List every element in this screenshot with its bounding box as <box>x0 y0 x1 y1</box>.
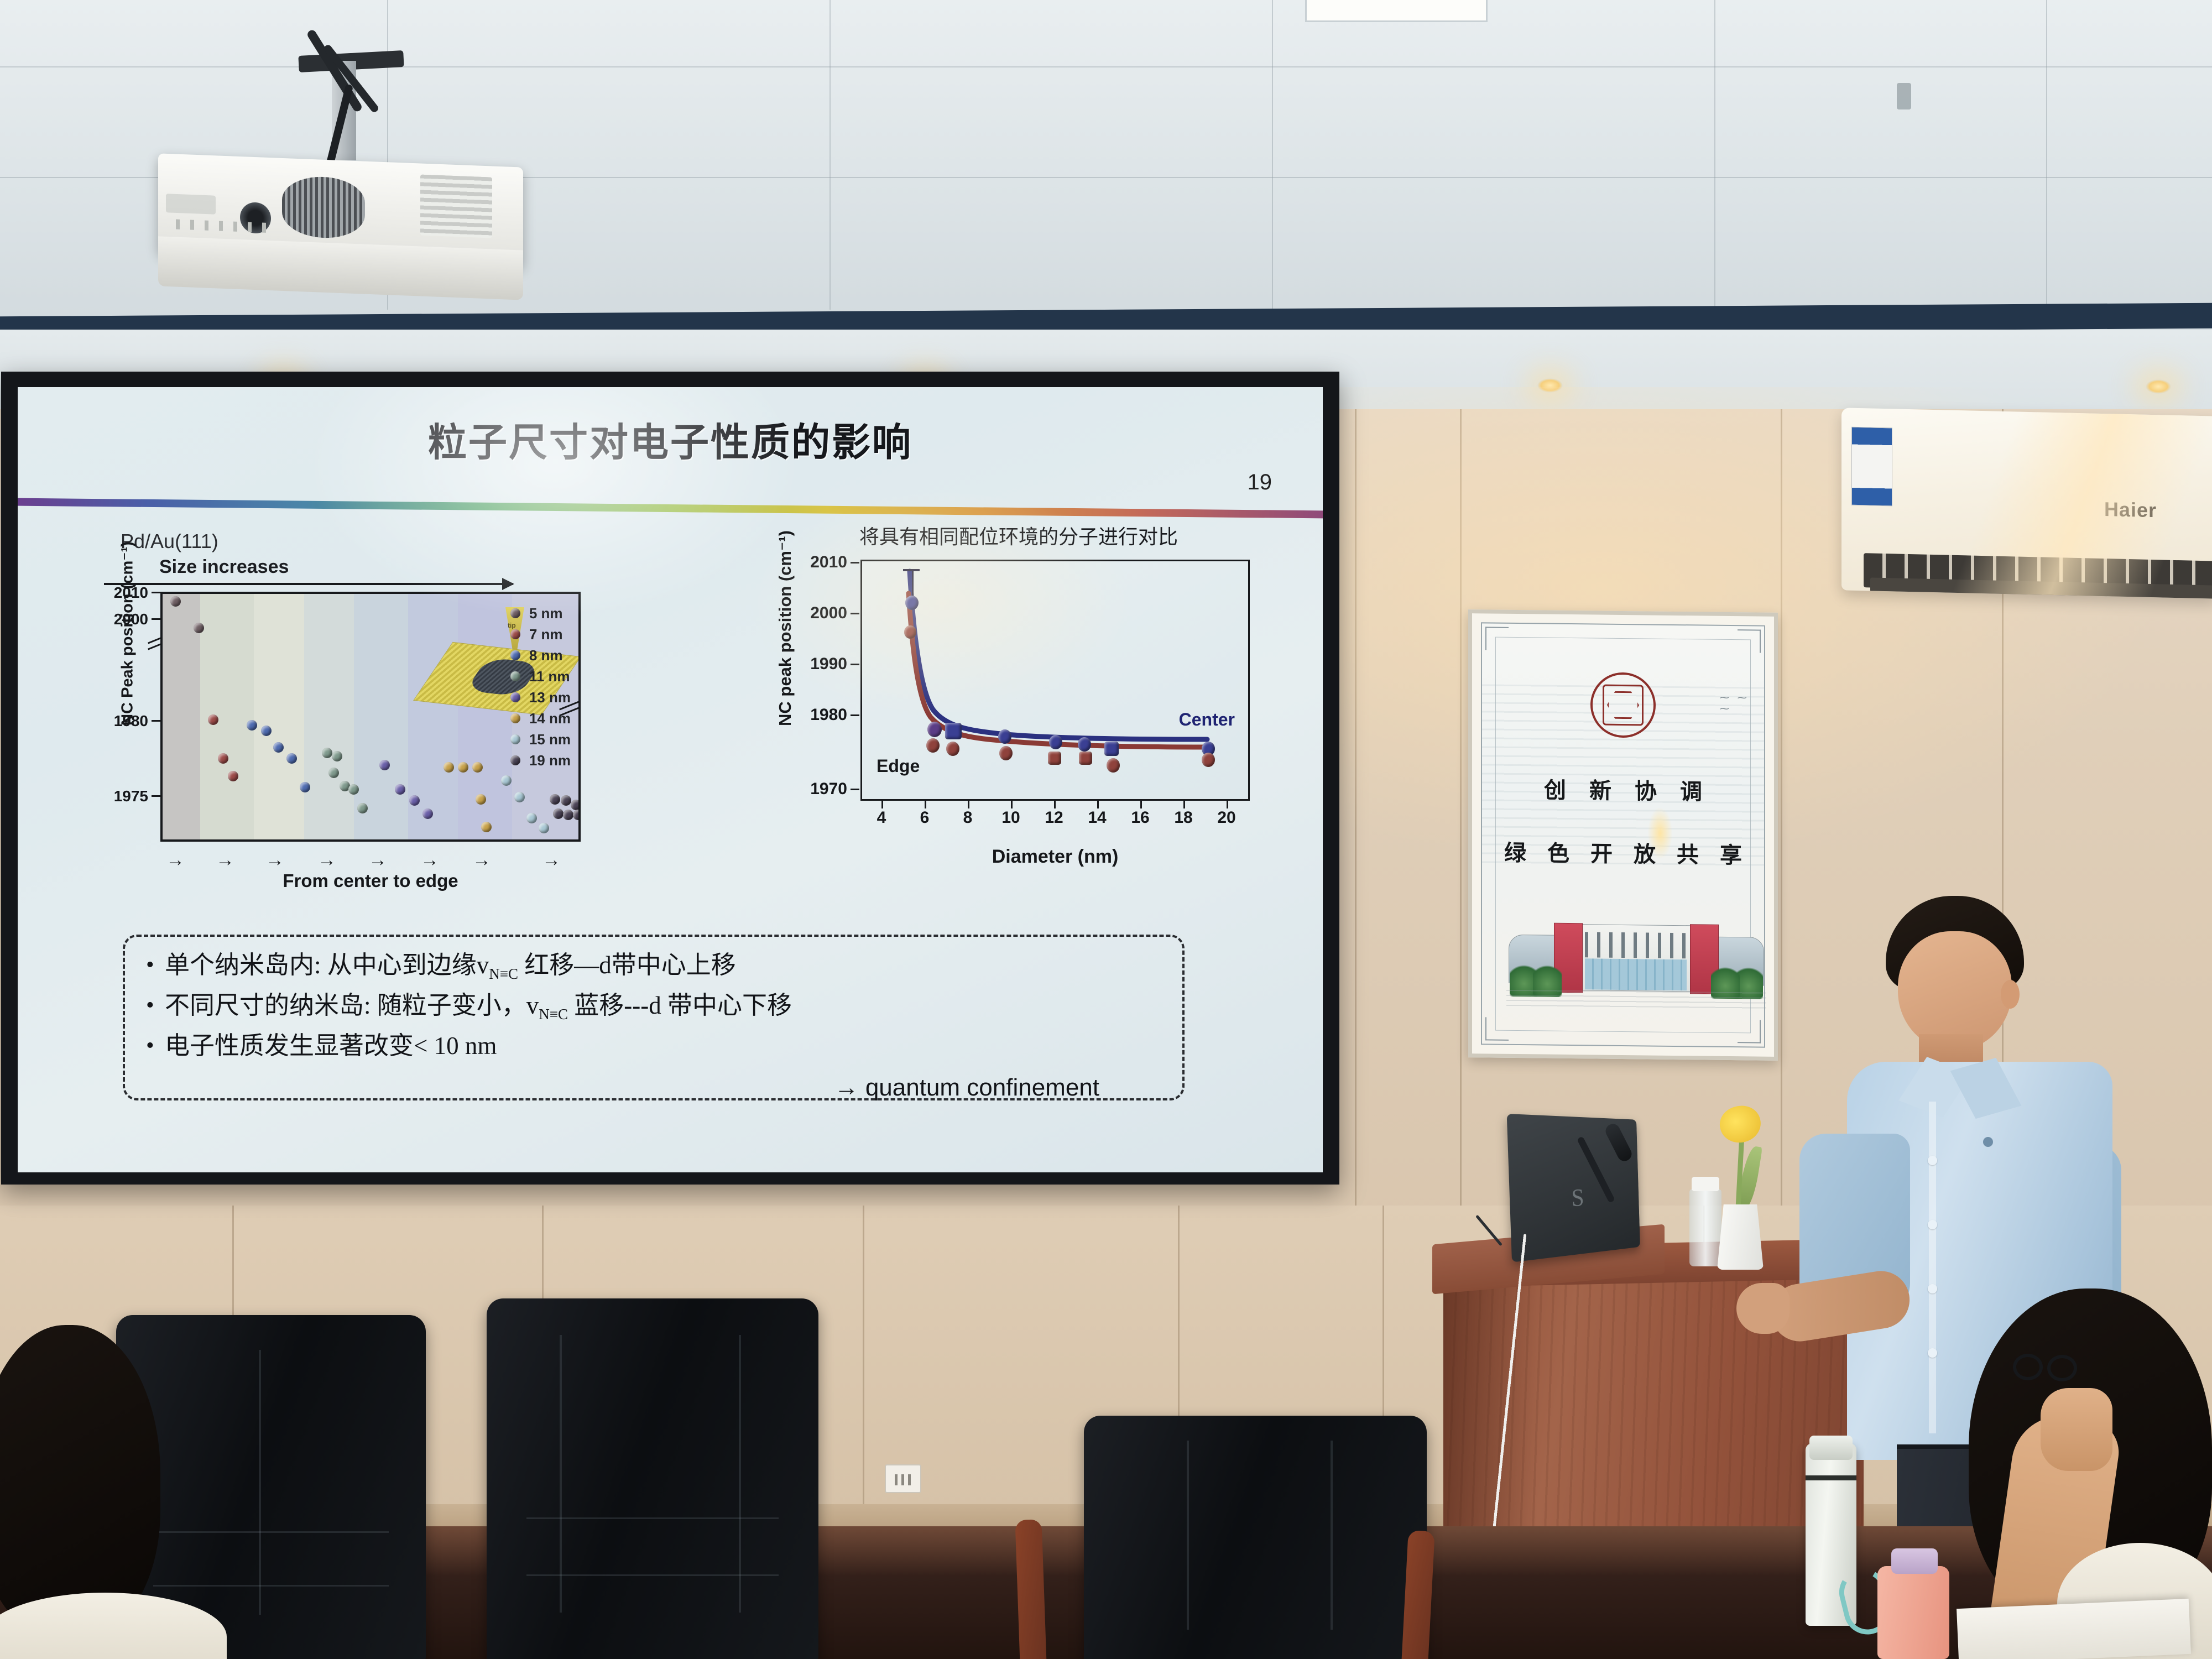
right-chart: 将具有相同配位环境的分子进行对比 NC peak position (cm⁻¹)… <box>737 524 1301 878</box>
data-point <box>501 775 512 786</box>
skylight-panel <box>1305 0 1488 22</box>
smoke-detector-icon <box>1897 83 1911 109</box>
legend-label: 8 nm <box>529 647 563 664</box>
data-point <box>571 800 581 810</box>
left-ytick: 2010 <box>82 584 148 602</box>
error-bar <box>903 569 920 571</box>
data-point <box>946 742 959 756</box>
water-bottle[interactable] <box>1689 1189 1721 1266</box>
left-ytick: 1980 <box>82 712 148 730</box>
data-point <box>1202 753 1215 767</box>
right-xtick: 4 <box>868 808 895 827</box>
bullet-dot-icon: • <box>146 992 165 1017</box>
left-chart-legend: 5 nm 7 nm 8 nm 11 nm 13 nm 14 nm 15 nm 1… <box>510 603 571 771</box>
wall-power-outlet[interactable] <box>885 1464 921 1493</box>
right-xtick: 6 <box>911 808 938 827</box>
shirt-pocket-logo <box>1983 1137 1993 1147</box>
legend-label: 11 nm <box>529 668 570 685</box>
right-xtick: 10 <box>998 808 1024 827</box>
data-point <box>1078 737 1091 752</box>
data-point <box>409 795 420 806</box>
data-point <box>444 762 454 773</box>
data-point <box>998 729 1011 744</box>
right-chart-caption: 将具有相同配位环境的分子进行对比 <box>737 521 1301 550</box>
data-point <box>208 714 218 725</box>
data-point <box>553 808 564 819</box>
center-to-edge-arrows: → → → → → → → → <box>163 849 581 868</box>
right-xtick: 8 <box>954 808 981 827</box>
legend-item: 13 nm <box>510 687 571 708</box>
data-point <box>273 742 284 753</box>
data-point <box>218 753 228 764</box>
projector-fan-grille <box>282 175 365 239</box>
legend-swatch <box>510 650 520 660</box>
center-series-label: Center <box>1179 709 1235 730</box>
data-point <box>395 784 405 795</box>
left-ytick: 1975 <box>82 787 148 805</box>
data-point <box>927 722 942 737</box>
data-point <box>476 794 486 805</box>
data-point <box>332 751 342 761</box>
bullet-item: • 不同尺寸的纳米岛: 随粒子变小，vN≡C 蓝移---d 带中心下移 <box>146 992 1161 1023</box>
right-ytick: 1990 <box>775 655 847 674</box>
poster-slogan-line1: 创 新 协 调 <box>1482 771 1764 806</box>
flower-vase <box>1717 1204 1764 1270</box>
data-point <box>1048 752 1061 765</box>
projected-slide: 粒子尺寸对电子性质的影响 19 Pd/Au(111) Size increase… <box>18 387 1323 1172</box>
data-point <box>999 746 1013 760</box>
data-point <box>1107 758 1120 773</box>
bullet-item: • 电子性质发生显著改变< 10 nm <box>146 1032 1161 1060</box>
bullet-text: 不同尺寸的纳米岛: 随粒子变小， <box>165 992 526 1019</box>
lecture-room-photo: Haier ⁓ ⁓ ⁓ 创 新 协 调 绿 色 开 放 共 享 <box>0 0 2212 1659</box>
legend-item: 15 nm <box>510 729 571 750</box>
data-point <box>286 753 297 764</box>
data-point <box>194 623 204 633</box>
legend-item: 8 nm <box>510 645 571 666</box>
edge-series-label: Edge <box>877 756 920 776</box>
slide-divider-bar <box>18 498 1323 519</box>
data-point <box>357 803 368 813</box>
right-ytick: 1970 <box>775 780 847 799</box>
data-point <box>379 760 390 770</box>
legend-swatch <box>510 692 520 702</box>
right-xtick: 14 <box>1084 808 1110 827</box>
data-point <box>228 771 238 781</box>
data-point <box>573 810 581 820</box>
data-point <box>539 823 549 833</box>
university-seal-icon <box>1590 672 1656 738</box>
legend-item: 19 nm <box>510 750 571 771</box>
size-increases-label: Size increases <box>159 556 289 578</box>
eyeglasses-icon <box>2013 1354 2079 1383</box>
bullet-subscript: N≡C <box>489 966 518 982</box>
data-point <box>1104 742 1119 756</box>
left-plot-area: tip 5 nm 7 nm 8 nm 11 nm 13 nm 14 nm 15 … <box>160 592 581 842</box>
data-point <box>563 810 573 820</box>
data-point <box>904 625 916 639</box>
data-point <box>561 795 571 806</box>
right-ytick: 2000 <box>775 604 847 623</box>
legend-label: 19 nm <box>529 752 571 769</box>
right-chart-xlabel: Diameter (nm) <box>860 846 1250 868</box>
left-ytick: 2000 <box>82 611 148 628</box>
legend-label: 15 nm <box>529 731 571 748</box>
presenter-face <box>1898 931 2012 1051</box>
printed-handout[interactable] <box>1957 1599 2191 1659</box>
data-point <box>945 723 962 739</box>
downlight-icon <box>2146 379 2171 394</box>
right-plot-area: Center Edge <box>860 560 1250 801</box>
legend-item: 11 nm <box>510 666 571 687</box>
data-point <box>481 822 492 832</box>
wall-poster: ⁓ ⁓ ⁓ 创 新 协 调 绿 色 开 放 共 享 <box>1468 609 1778 1061</box>
data-point <box>261 726 272 736</box>
data-point <box>422 808 433 819</box>
presenter-hand <box>1736 1283 1790 1334</box>
left-chart-ylabel: NC Peak position (cm⁻¹) <box>118 540 137 728</box>
attendee-hand <box>2041 1388 2112 1471</box>
bullet-dot-icon: • <box>146 1032 165 1057</box>
legend-item: 7 nm <box>510 624 571 645</box>
poster-slogan-line2: 绿 色 开 放 共 享 <box>1482 834 1764 869</box>
slide-bullet-box: • 单个纳米岛内: 从中心到边缘vN≡C 红移—d带中心上移 • 不同尺寸的纳米… <box>123 935 1185 1100</box>
bullet-subscript: N≡C <box>539 1006 568 1022</box>
legend-swatch <box>510 608 520 618</box>
air-conditioner: Haier <box>1841 408 2212 598</box>
left-chart-xlabel: From center to edge <box>160 870 581 891</box>
size-increases-arrow-icon <box>104 583 513 585</box>
legend-label: 7 nm <box>529 626 563 643</box>
data-point <box>526 813 537 823</box>
right-xtick: 12 <box>1041 808 1067 827</box>
data-point <box>300 782 310 792</box>
data-point <box>472 762 483 773</box>
legend-swatch <box>510 755 520 765</box>
data-point <box>348 784 359 795</box>
legend-swatch <box>510 671 520 681</box>
bullet-symbol: v <box>526 992 539 1019</box>
chair[interactable] <box>1084 1416 1427 1659</box>
data-point <box>170 596 181 607</box>
data-point <box>514 792 525 802</box>
bullet-item: • 单个纳米岛内: 从中心到边缘vN≡C 红移—d带中心上移 <box>146 951 1161 983</box>
legend-item: 5 nm <box>510 603 571 624</box>
right-xtick: 18 <box>1170 808 1197 827</box>
slide-page-number: 19 <box>1248 470 1272 495</box>
data-point <box>1049 735 1062 749</box>
bullet-symbol: v <box>477 951 489 979</box>
legend-swatch <box>510 734 520 744</box>
data-point <box>328 768 339 778</box>
pink-water-bottle[interactable] <box>1877 1566 1949 1659</box>
campus-building-illustration <box>1506 893 1766 1011</box>
right-ytick: 2010 <box>775 553 847 572</box>
slide-title: 粒子尺寸对电子性质的影响 <box>18 411 1323 467</box>
data-point <box>322 748 332 758</box>
right-ytick: 1980 <box>775 706 847 724</box>
data-point <box>926 738 940 753</box>
left-chart: Pd/Au(111) Size increases NC Peak positi… <box>49 530 701 873</box>
birds-icon: ⁓ ⁓ ⁓ <box>1720 692 1764 715</box>
bullet-text-suffix: 红移—d带中心上移 <box>518 951 736 979</box>
conclusion-text: → quantum confinement <box>834 1074 1099 1102</box>
legend-label: 14 nm <box>529 710 571 727</box>
legend-label: 5 nm <box>529 605 563 622</box>
right-xtick: 16 <box>1127 808 1154 827</box>
attendee-hair <box>0 1325 160 1635</box>
legend-item: 14 nm <box>510 708 571 729</box>
chair-armrest <box>1015 1519 1046 1659</box>
legend-swatch <box>510 629 520 639</box>
bullet-text-suffix: 蓝移---d 带中心下移 <box>568 992 792 1019</box>
downlight-icon <box>1537 378 1563 393</box>
bullet-text: 单个纳米岛内: 从中心到边缘 <box>165 951 477 979</box>
data-point <box>458 762 468 773</box>
center-series-curve <box>862 561 1251 802</box>
bullet-dot-icon: • <box>146 951 165 977</box>
data-point <box>550 794 560 805</box>
chair[interactable] <box>487 1298 818 1659</box>
data-point <box>1079 752 1092 765</box>
projection-screen-frame: 粒子尺寸对电子性质的影响 19 Pd/Au(111) Size increase… <box>1 372 1339 1185</box>
data-point <box>905 596 919 610</box>
legend-label: 13 nm <box>529 689 571 706</box>
legend-swatch <box>510 713 520 723</box>
bullet-text: 电子性质发生显著改变< 10 nm <box>165 1032 497 1060</box>
data-point <box>247 720 257 731</box>
right-xtick: 20 <box>1213 808 1240 827</box>
